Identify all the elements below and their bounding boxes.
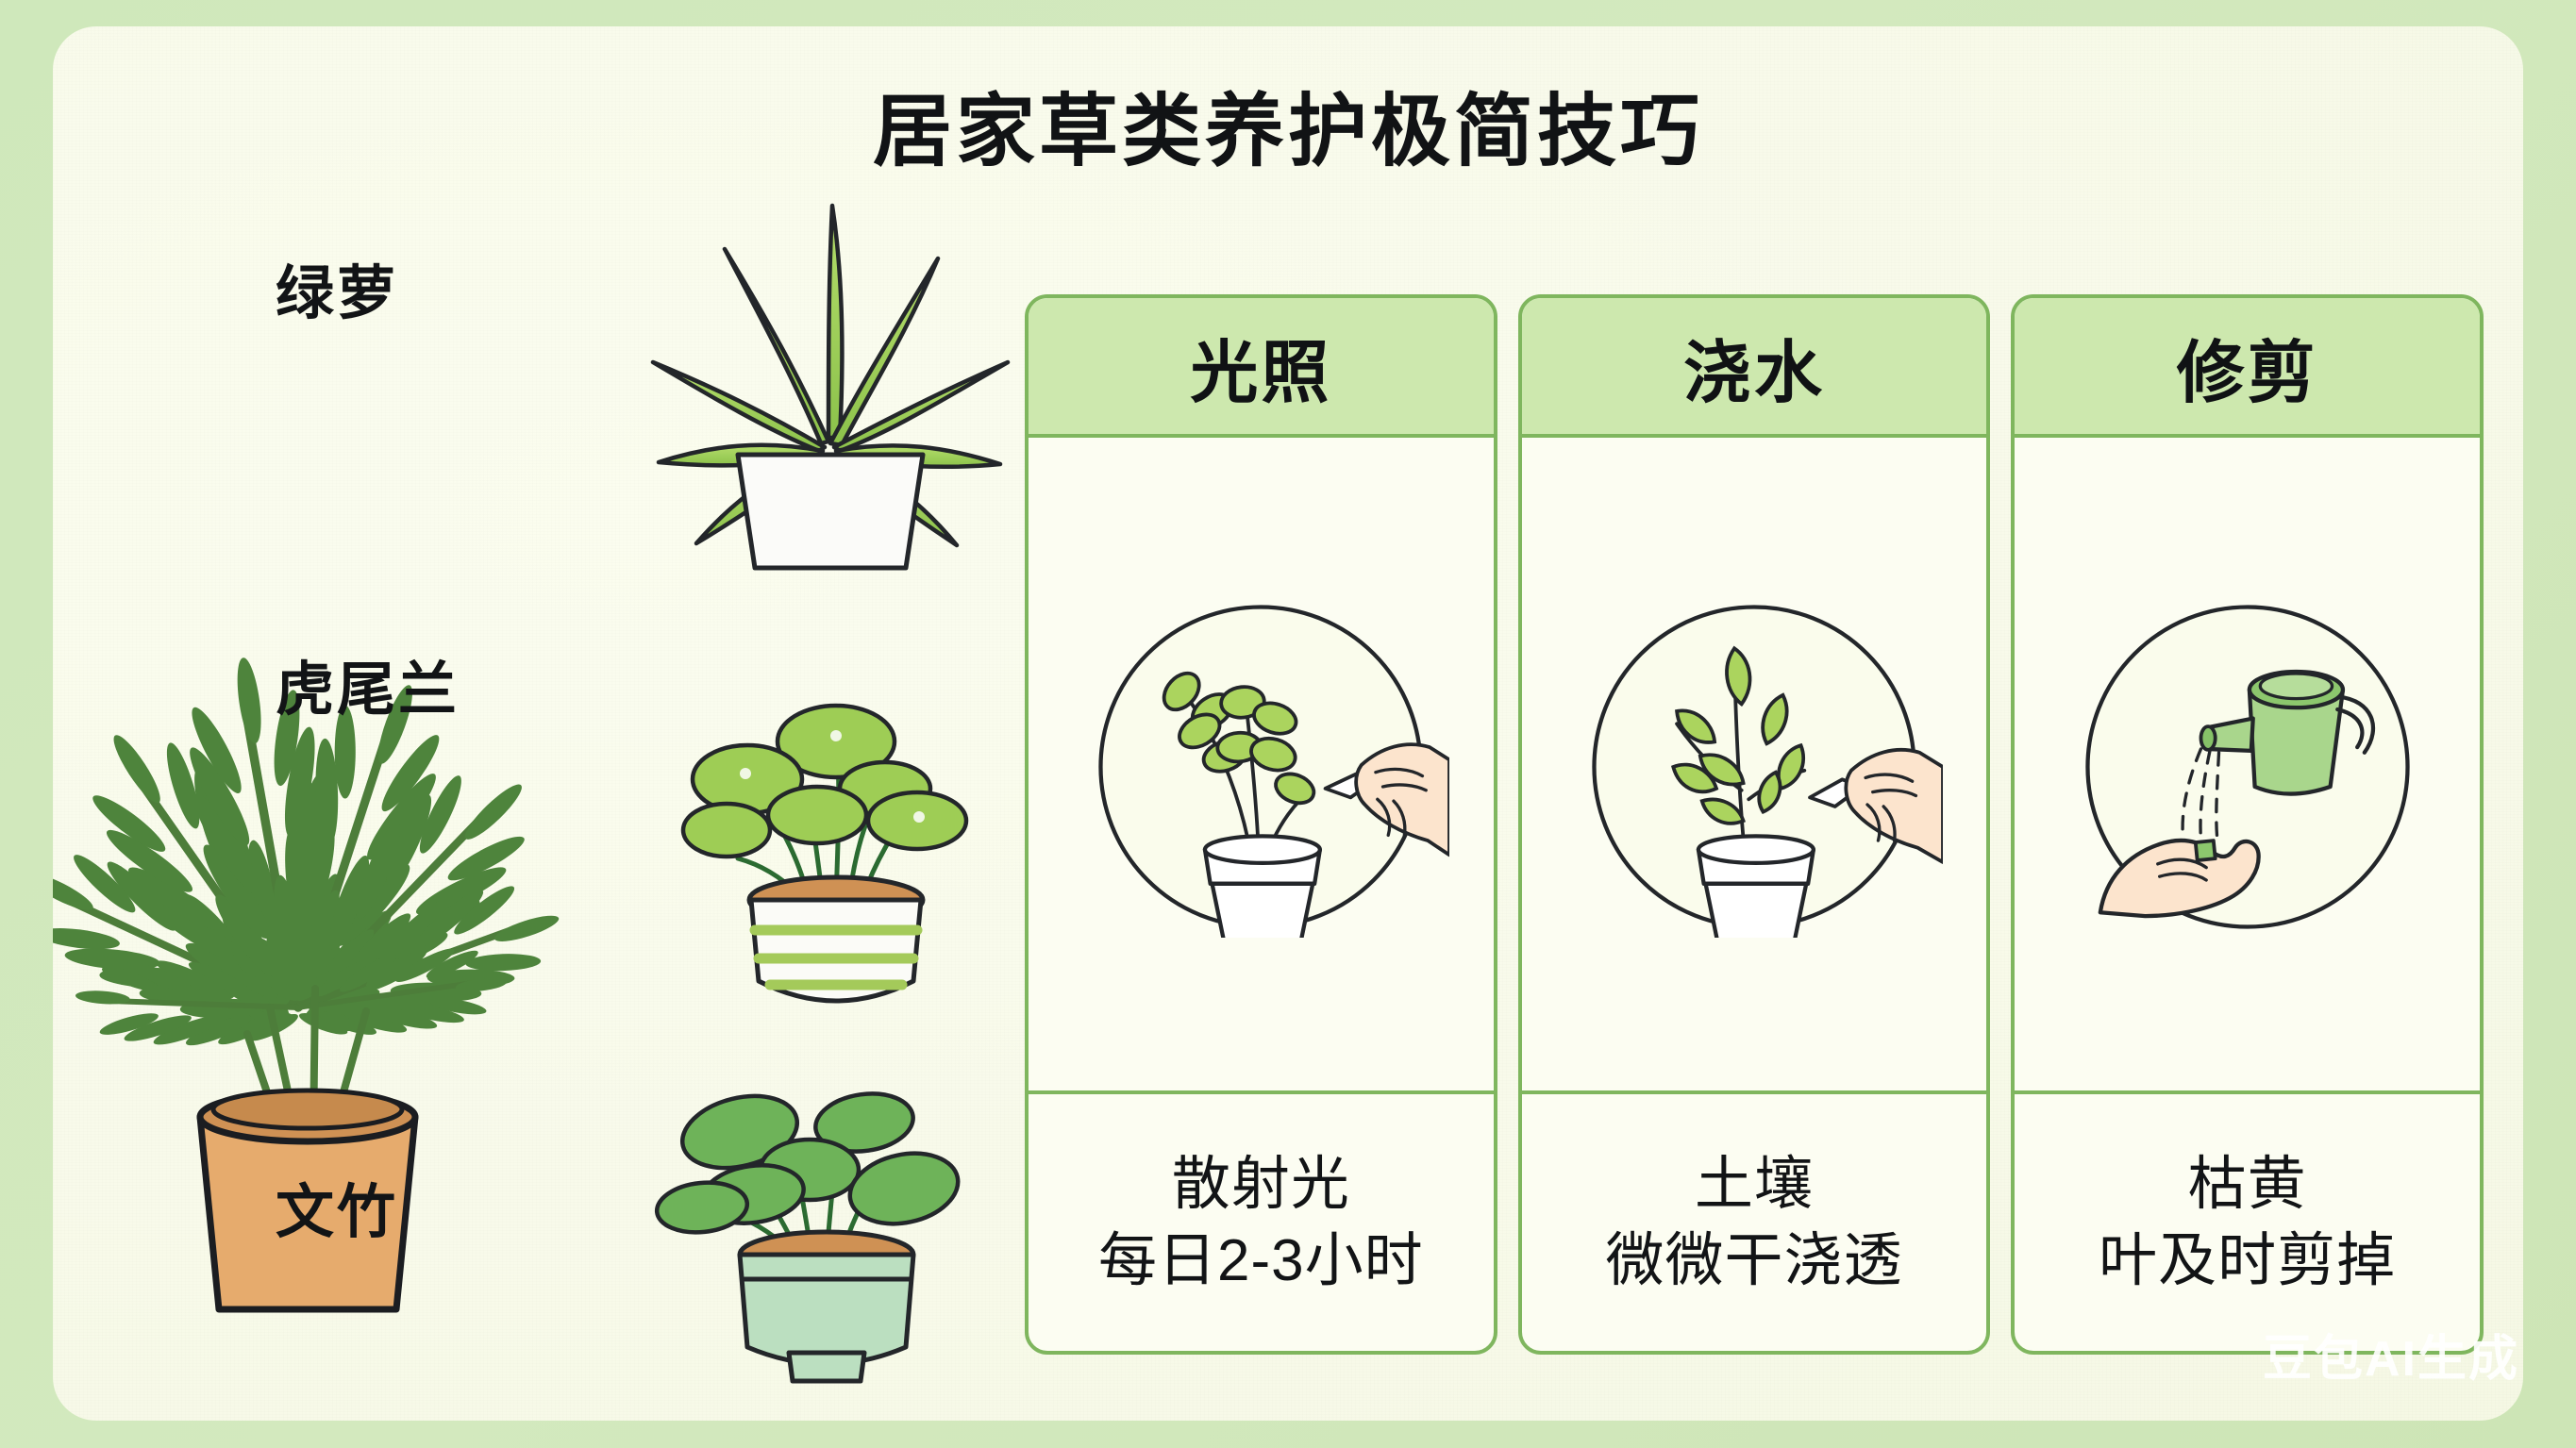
plant-label-1: 绿萝 [276, 245, 398, 330]
card-header-label: 浇水 [1683, 317, 1825, 416]
card-text-line-2: 叶及时剪掉 [2099, 1224, 2396, 1298]
care-card-light[interactable]: 光照 [1025, 294, 1497, 1355]
care-cards-container: 光照 [1025, 294, 2484, 1355]
card-illustration-light [1029, 438, 1494, 1090]
card-text-line-1: 枯黄 [2188, 1148, 2307, 1222]
watering-can-hand-icon [2059, 596, 2436, 938]
card-illustration-pruning [2015, 438, 2480, 1090]
pilea-striped-pot-icon [647, 630, 1025, 1017]
page-title: 居家草类养护极简技巧 [53, 68, 2523, 182]
card-header-label: 修剪 [2177, 317, 2318, 416]
card-illustration-watering [1522, 438, 1987, 1090]
card-text-watering: 土壤 微微干浇透 [1522, 1090, 1987, 1351]
card-text-line-1: 土壤 [1695, 1148, 1814, 1222]
card-header-watering: 浇水 [1522, 298, 1987, 438]
content-panel: 居家草类养护极简技巧 [53, 26, 2523, 1421]
spider-plant-white-pot-icon [619, 179, 1034, 575]
card-header-label: 光照 [1190, 317, 1331, 416]
hand-tool-potted-plant-icon [1565, 596, 1943, 938]
card-header-light: 光照 [1029, 298, 1494, 438]
plant-label-2: 虎尾兰 [276, 641, 460, 726]
pilea-mint-pot-icon [638, 1007, 1015, 1404]
card-header-pruning: 修剪 [2015, 298, 2480, 438]
card-text-line-2: 微微干浇透 [1606, 1224, 1903, 1298]
infographic-root: 居家草类养护极简技巧 [0, 0, 2576, 1448]
hand-tool-potted-plant-icon [1072, 596, 1449, 938]
care-card-pruning[interactable]: 修剪 [2011, 294, 2484, 1355]
card-text-line-2: 每日2-3小时 [1098, 1224, 1424, 1298]
card-text-line-1: 散射光 [1172, 1148, 1350, 1222]
card-text-pruning: 枯黄 叶及时剪掉 [2015, 1090, 2480, 1351]
care-card-watering[interactable]: 浇水 [1518, 294, 1991, 1355]
plant-label-3: 文竹 [276, 1164, 398, 1249]
card-text-light: 散射光 每日2-3小时 [1029, 1090, 1494, 1351]
